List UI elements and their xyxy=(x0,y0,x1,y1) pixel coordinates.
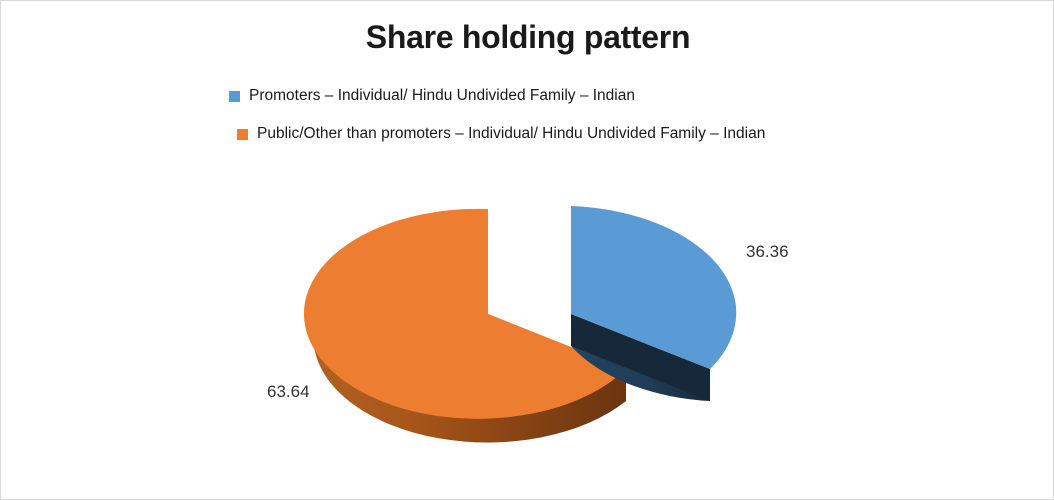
pie-chart-graphic xyxy=(1,1,1054,500)
chart-frame: Share holding pattern Promoters – Indivi… xyxy=(0,0,1054,500)
data-label-public: 63.64 xyxy=(267,382,310,402)
data-label-promoters: 36.36 xyxy=(746,242,789,262)
